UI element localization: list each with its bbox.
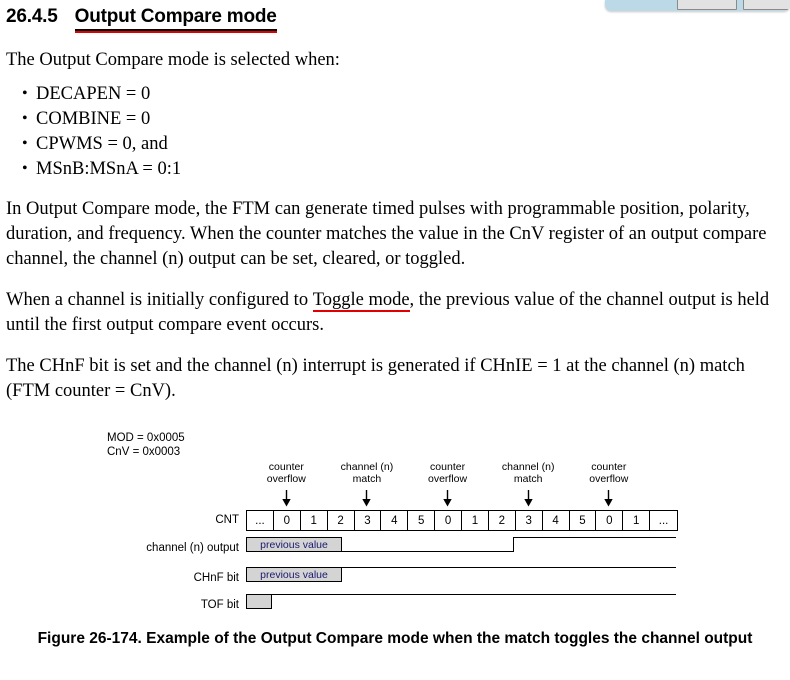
row-label-chnf-bit: CHnF bit — [194, 572, 239, 584]
highlighted-phrase: Toggle mode — [313, 288, 410, 313]
waveform-segment — [272, 594, 676, 595]
list-item: CPWMS = 0, and — [36, 132, 790, 157]
page-title: 26.4.5 Output Compare mode — [0, 0, 790, 31]
cnt-cell: 5 — [408, 511, 435, 530]
section-title: Output Compare mode — [75, 6, 277, 31]
event-arrow-icon — [282, 490, 291, 507]
event-label: counter overflow — [408, 462, 488, 485]
cnt-cell: ... — [247, 511, 274, 530]
body-paragraph-3: The CHnF bit is set and the channel (n) … — [0, 338, 790, 404]
waveform-channel-output: previous value — [246, 537, 676, 555]
cnt-cell: 3 — [516, 511, 543, 530]
waveform-segment — [342, 551, 513, 552]
previous-value-box — [246, 594, 272, 609]
event-arrow-icon — [604, 490, 613, 507]
event-label: channel (n) match — [488, 462, 568, 485]
highlight-text-before: When a channel is initially configured t… — [6, 290, 313, 310]
waveform-edge — [513, 537, 514, 552]
cnt-cell: 2 — [489, 511, 516, 530]
list-item: DECAPEN = 0 — [36, 82, 790, 107]
cnt-cell: 3 — [355, 511, 382, 530]
section-number: 26.4.5 — [6, 6, 58, 28]
row-label-channel-output: channel (n) output — [146, 542, 239, 554]
event-label: counter overflow — [569, 462, 649, 485]
register-values: MOD = 0x0005 CnV = 0x0003 — [107, 431, 185, 459]
previous-value-box: previous value — [246, 567, 342, 582]
event-arrow-icon — [362, 490, 371, 507]
waveform-tof-bit — [246, 594, 676, 612]
event-label: counter overflow — [246, 462, 326, 485]
body-paragraph-2: When a channel is initially configured t… — [0, 272, 790, 338]
document-body: 26.4.5 Output Compare mode The Output Co… — [0, 0, 790, 404]
lead-paragraph: The Output Compare mode is selected when… — [0, 31, 790, 73]
row-label-cnt: CNT — [215, 514, 239, 526]
figure-caption: Figure 26-174. Example of the Output Com… — [0, 628, 790, 649]
cnt-cell: 0 — [596, 511, 623, 530]
cnt-cell: 4 — [381, 511, 408, 530]
waveform-chnf-bit: previous value — [246, 567, 676, 585]
event-arrow-icon — [524, 490, 533, 507]
waveform-segment — [513, 537, 676, 538]
cnt-cell: 5 — [570, 511, 597, 530]
cnt-cell: 0 — [274, 511, 301, 530]
timing-diagram: MOD = 0x0005 CnV = 0x0003 counter overfl… — [0, 425, 790, 625]
cnt-cell: 1 — [623, 511, 650, 530]
row-label-tof-bit: TOF bit — [201, 599, 239, 611]
cnt-cell: 0 — [435, 511, 462, 530]
event-arrow-icon — [443, 490, 452, 507]
cnt-cell: 4 — [543, 511, 570, 530]
body-paragraph-1: In Output Compare mode, the FTM can gene… — [0, 182, 790, 272]
cnt-cell: 1 — [301, 511, 328, 530]
list-item: MSnB:MSnA = 0:1 — [36, 157, 790, 182]
waveform-segment — [342, 567, 676, 568]
cnt-row: ...01234501234501... — [246, 510, 678, 531]
condition-list: DECAPEN = 0 COMBINE = 0 CPWMS = 0, and M… — [0, 82, 790, 182]
cnt-cell: 2 — [328, 511, 355, 530]
list-item: COMBINE = 0 — [36, 107, 790, 132]
event-label: channel (n) match — [327, 462, 407, 485]
cnt-cell: 1 — [462, 511, 489, 530]
cnt-cell: ... — [650, 511, 677, 530]
previous-value-box: previous value — [246, 537, 342, 552]
